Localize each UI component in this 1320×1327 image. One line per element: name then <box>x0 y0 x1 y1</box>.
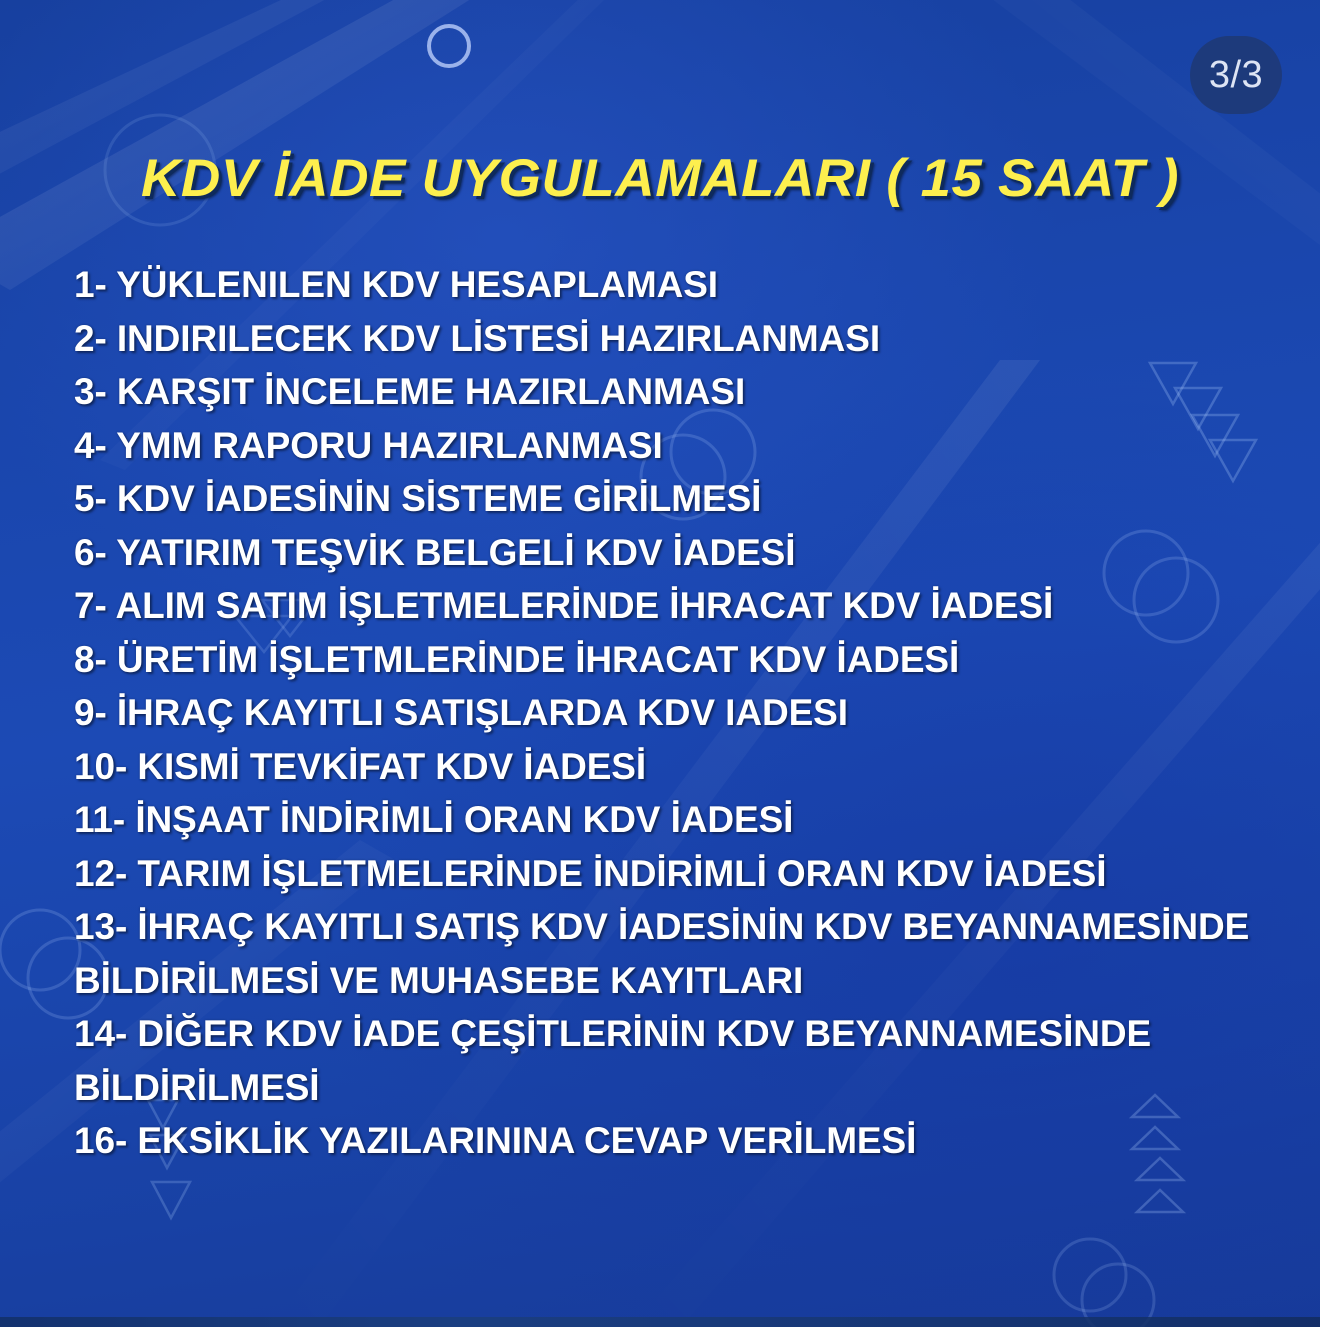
slide-title: KDV İADE UYGULAMALARI ( 15 SAAT ) <box>0 148 1320 209</box>
topics-list: 1- YÜKLENILEN KDV HESAPLAMASI 2- INDIRIL… <box>74 258 1304 1168</box>
list-item: 9- İHRAÇ KAYITLI SATIŞLARDA KDV IADESI <box>74 686 1304 740</box>
list-item: 7- ALIM SATIM İŞLETMELERİNDE İHRACAT KDV… <box>74 579 1304 633</box>
list-item: 4- YMM RAPORU HAZIRLANMASI <box>74 419 1304 473</box>
list-item: 1- YÜKLENILEN KDV HESAPLAMASI <box>74 258 1304 312</box>
list-item: 2- INDIRILECEK KDV LİSTESİ HAZIRLANMASI <box>74 312 1304 366</box>
list-item: 6- YATIRIM TEŞVİK BELGELİ KDV İADESİ <box>74 526 1304 580</box>
circle-outline-icon <box>427 24 471 68</box>
list-item: 12- TARIM İŞLETMELERİNDE İNDİRİMLİ ORAN … <box>74 847 1304 901</box>
list-item: 8- ÜRETİM İŞLETMLERİNDE İHRACAT KDV İADE… <box>74 633 1304 687</box>
list-item: 13- İHRAÇ KAYITLI SATIŞ KDV İADESİNİN KD… <box>74 900 1304 1007</box>
page-indicator-badge: 3/3 <box>1190 36 1282 114</box>
bottom-edge-strip <box>0 1317 1320 1327</box>
list-item: 3- KARŞIT İNCELEME HAZIRLANMASI <box>74 365 1304 419</box>
list-item: 14- DİĞER KDV İADE ÇEŞİTLERİNİN KDV BEYA… <box>74 1007 1304 1114</box>
list-item: 11- İNŞAAT İNDİRİMLİ ORAN KDV İADESİ <box>74 793 1304 847</box>
list-item: 16- EKSİKLİK YAZILARININA CEVAP VERİLMES… <box>74 1114 1304 1168</box>
list-item: 5- KDV İADESİNİN SİSTEME GİRİLMESİ <box>74 472 1304 526</box>
list-item: 10- KISMİ TEVKİFAT KDV İADESİ <box>74 740 1304 794</box>
slide-canvas: 3/3 KDV İADE UYGULAMALARI ( 15 SAAT ) 1-… <box>0 0 1320 1327</box>
